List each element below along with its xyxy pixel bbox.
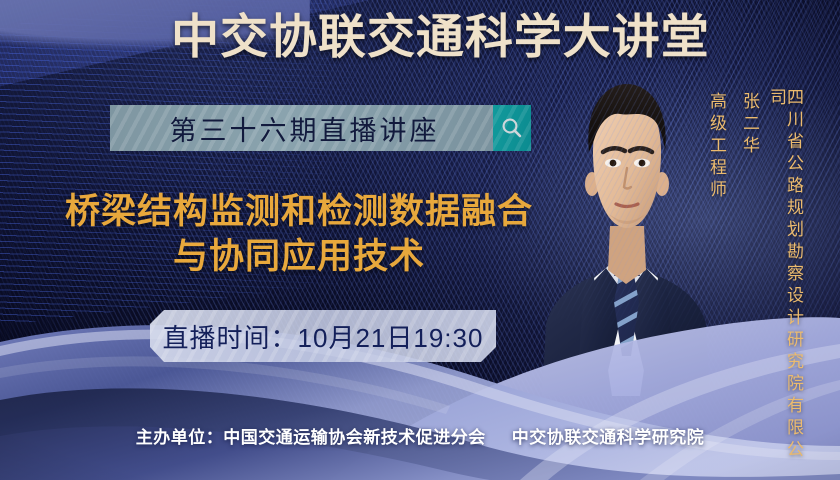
search-icon xyxy=(500,116,524,140)
footer-org-1: 中国交通运输协会新技术促进分会 xyxy=(223,428,486,447)
page-title: 中交协联交通科学大讲堂 xyxy=(0,14,840,61)
poster-root: 中交协联交通科学大讲堂 第三十六期直播讲座 桥梁结构监测和检测数据融合 与协同应… xyxy=(0,0,840,480)
footer-org-2: 中交协联交通科学研究院 xyxy=(512,428,705,447)
broadcast-time-badge: 直播时间：10月21日19:30 xyxy=(150,310,496,362)
subtitle-label: 第三十六期直播讲座 xyxy=(110,105,493,151)
footer-prefix: 主办单位： xyxy=(136,428,224,447)
subtitle-banner: 第三十六期直播讲座 xyxy=(110,105,531,151)
speaker-info: 张二华 高级工程师 xyxy=(708,92,758,202)
speaker-title: 高级工程师 xyxy=(708,92,725,202)
speaker-company: 四川省公路规划勘察设计研究院有限公司 xyxy=(768,88,802,480)
lecture-topic-line2: 与协同应用技术 xyxy=(34,235,564,280)
lecture-topic: 桥梁结构监测和检测数据融合 与协同应用技术 xyxy=(34,190,564,280)
search-icon-box[interactable] xyxy=(493,105,531,151)
lecture-topic-line1: 桥梁结构监测和检测数据融合 xyxy=(65,192,533,231)
speaker-name: 张二华 xyxy=(741,92,758,202)
footer-organizers: 主办单位：中国交通运输协会新技术促进分会中交协联交通科学研究院 xyxy=(0,423,840,448)
broadcast-time-text: 直播时间：10月21日19:30 xyxy=(163,318,484,355)
